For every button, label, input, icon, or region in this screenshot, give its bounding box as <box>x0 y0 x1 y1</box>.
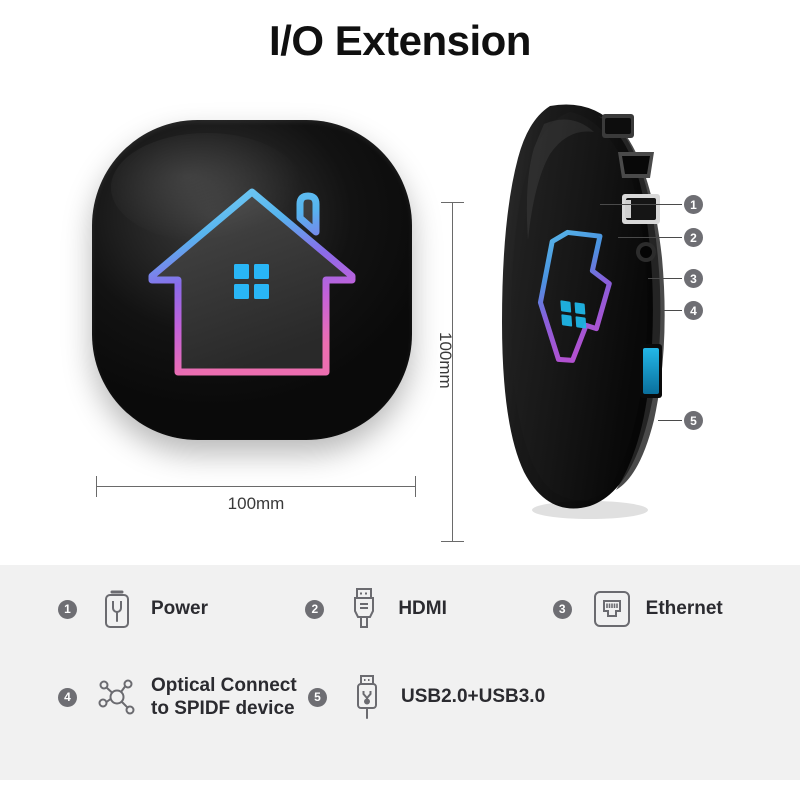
legend-label: Optical Connect to SPIDF device <box>151 674 297 720</box>
callout-badge: 4 <box>684 301 703 320</box>
legend-badge: 1 <box>58 600 77 619</box>
legend-item-hdmi[interactable]: 2 HDMI <box>305 587 552 631</box>
legend-badge: 4 <box>58 688 77 707</box>
port-hdmi <box>618 152 654 178</box>
legend-label: Power <box>151 597 208 620</box>
usb-icon <box>345 675 389 719</box>
hdmi-icon <box>342 587 386 631</box>
callout-leader <box>648 278 682 279</box>
legend-badge: 3 <box>553 600 572 619</box>
dimension-height-label: 100mm <box>435 332 455 389</box>
legend-badge: 5 <box>308 688 327 707</box>
port-usb <box>640 344 662 398</box>
product-hero: 100mm 100mm <box>0 82 800 565</box>
callout-leader <box>658 420 682 421</box>
callout-badge: 5 <box>684 411 703 430</box>
device-side-view <box>498 90 698 520</box>
callout-leader <box>600 204 682 205</box>
callout-badge: 1 <box>684 195 703 214</box>
legend-row: 4 Optical Connect to SPIDF device 5 <box>0 653 800 741</box>
optical-icon <box>95 675 139 719</box>
legend-row: 1 Power 2 <box>0 565 800 653</box>
legend-item-ethernet[interactable]: 3 Ethernet <box>553 587 800 631</box>
port-optical <box>636 242 656 262</box>
legend-item-usb[interactable]: 5 USB2.0+USB3.0 <box>308 675 558 719</box>
port-ethernet <box>622 194 660 224</box>
legend-item-optical[interactable]: 4 Optical Connect to SPIDF device <box>58 674 308 720</box>
legend-label: HDMI <box>398 597 447 620</box>
ethernet-icon <box>590 587 634 631</box>
callout-leader <box>618 237 682 238</box>
legend-label: USB2.0+USB3.0 <box>401 685 545 708</box>
power-icon <box>95 587 139 631</box>
house-logo <box>140 180 365 385</box>
dimension-line-horizontal <box>96 486 416 487</box>
device-top-view <box>92 120 412 440</box>
callout-badge: 2 <box>684 228 703 247</box>
callout-leader <box>662 310 682 311</box>
dimension-width-label: 100mm <box>96 494 416 514</box>
callout-badge: 3 <box>684 269 703 288</box>
title-bar: I/O Extension <box>0 0 800 82</box>
page-title: I/O Extension <box>269 20 531 62</box>
legend-item-power[interactable]: 1 Power <box>58 587 305 631</box>
port-power <box>602 114 634 138</box>
legend-badge: 2 <box>305 600 324 619</box>
legend-label: Ethernet <box>646 597 723 620</box>
legend-panel: 1 Power 2 <box>0 565 800 780</box>
